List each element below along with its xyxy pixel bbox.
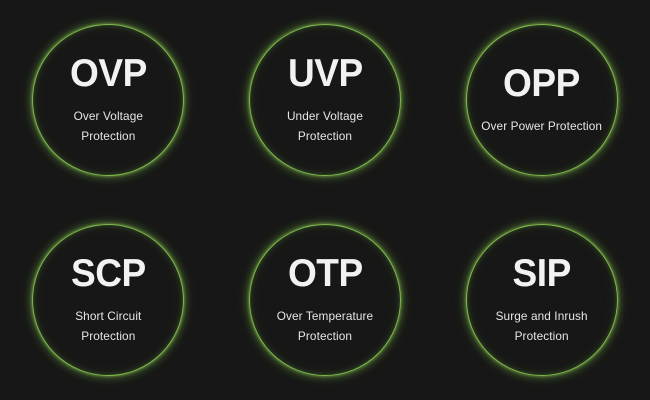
protection-circle-surge-and-inrush-protection: SIP Surge and Inrush Protection	[466, 224, 618, 376]
protection-circle-under-voltage-protection: UVP Under Voltage Protection	[249, 24, 401, 176]
circle-content: OVP Over Voltage Protection	[33, 54, 183, 147]
description-label: Over Voltage Protection	[74, 106, 143, 147]
circle-content: OTP Over Temperature Protection	[250, 254, 400, 347]
acronym-label: OPP	[503, 64, 580, 103]
protection-circle-short-circuit-protection: SCP Short Circuit Protection	[32, 224, 184, 376]
description-label: Under Voltage Protection	[287, 106, 363, 147]
protection-circle-over-power-protection: OPP Over Power Protection	[466, 24, 618, 176]
description-label: Over Temperature Protection	[277, 306, 373, 347]
protection-circle-over-temperature-protection: OTP Over Temperature Protection	[249, 224, 401, 376]
protection-features-graphic: OVP Over Voltage Protection UVP Under Vo…	[0, 0, 650, 400]
description-label: Over Power Protection	[481, 116, 602, 136]
description-label: Short Circuit Protection	[75, 306, 141, 347]
protection-circle-grid: OVP Over Voltage Protection UVP Under Vo…	[0, 0, 650, 400]
acronym-label: OTP	[288, 254, 363, 293]
circle-content: SCP Short Circuit Protection	[33, 254, 183, 347]
circle-content: SIP Surge and Inrush Protection	[467, 254, 617, 347]
protection-circle-over-voltage-protection: OVP Over Voltage Protection	[32, 24, 184, 176]
acronym-label: UVP	[288, 54, 363, 93]
acronym-label: OVP	[70, 54, 147, 93]
acronym-label: SCP	[71, 254, 146, 293]
description-label: Surge and Inrush Protection	[496, 306, 588, 347]
acronym-label: SIP	[513, 254, 571, 293]
circle-content: OPP Over Power Protection	[467, 64, 617, 136]
circle-content: UVP Under Voltage Protection	[250, 54, 400, 147]
